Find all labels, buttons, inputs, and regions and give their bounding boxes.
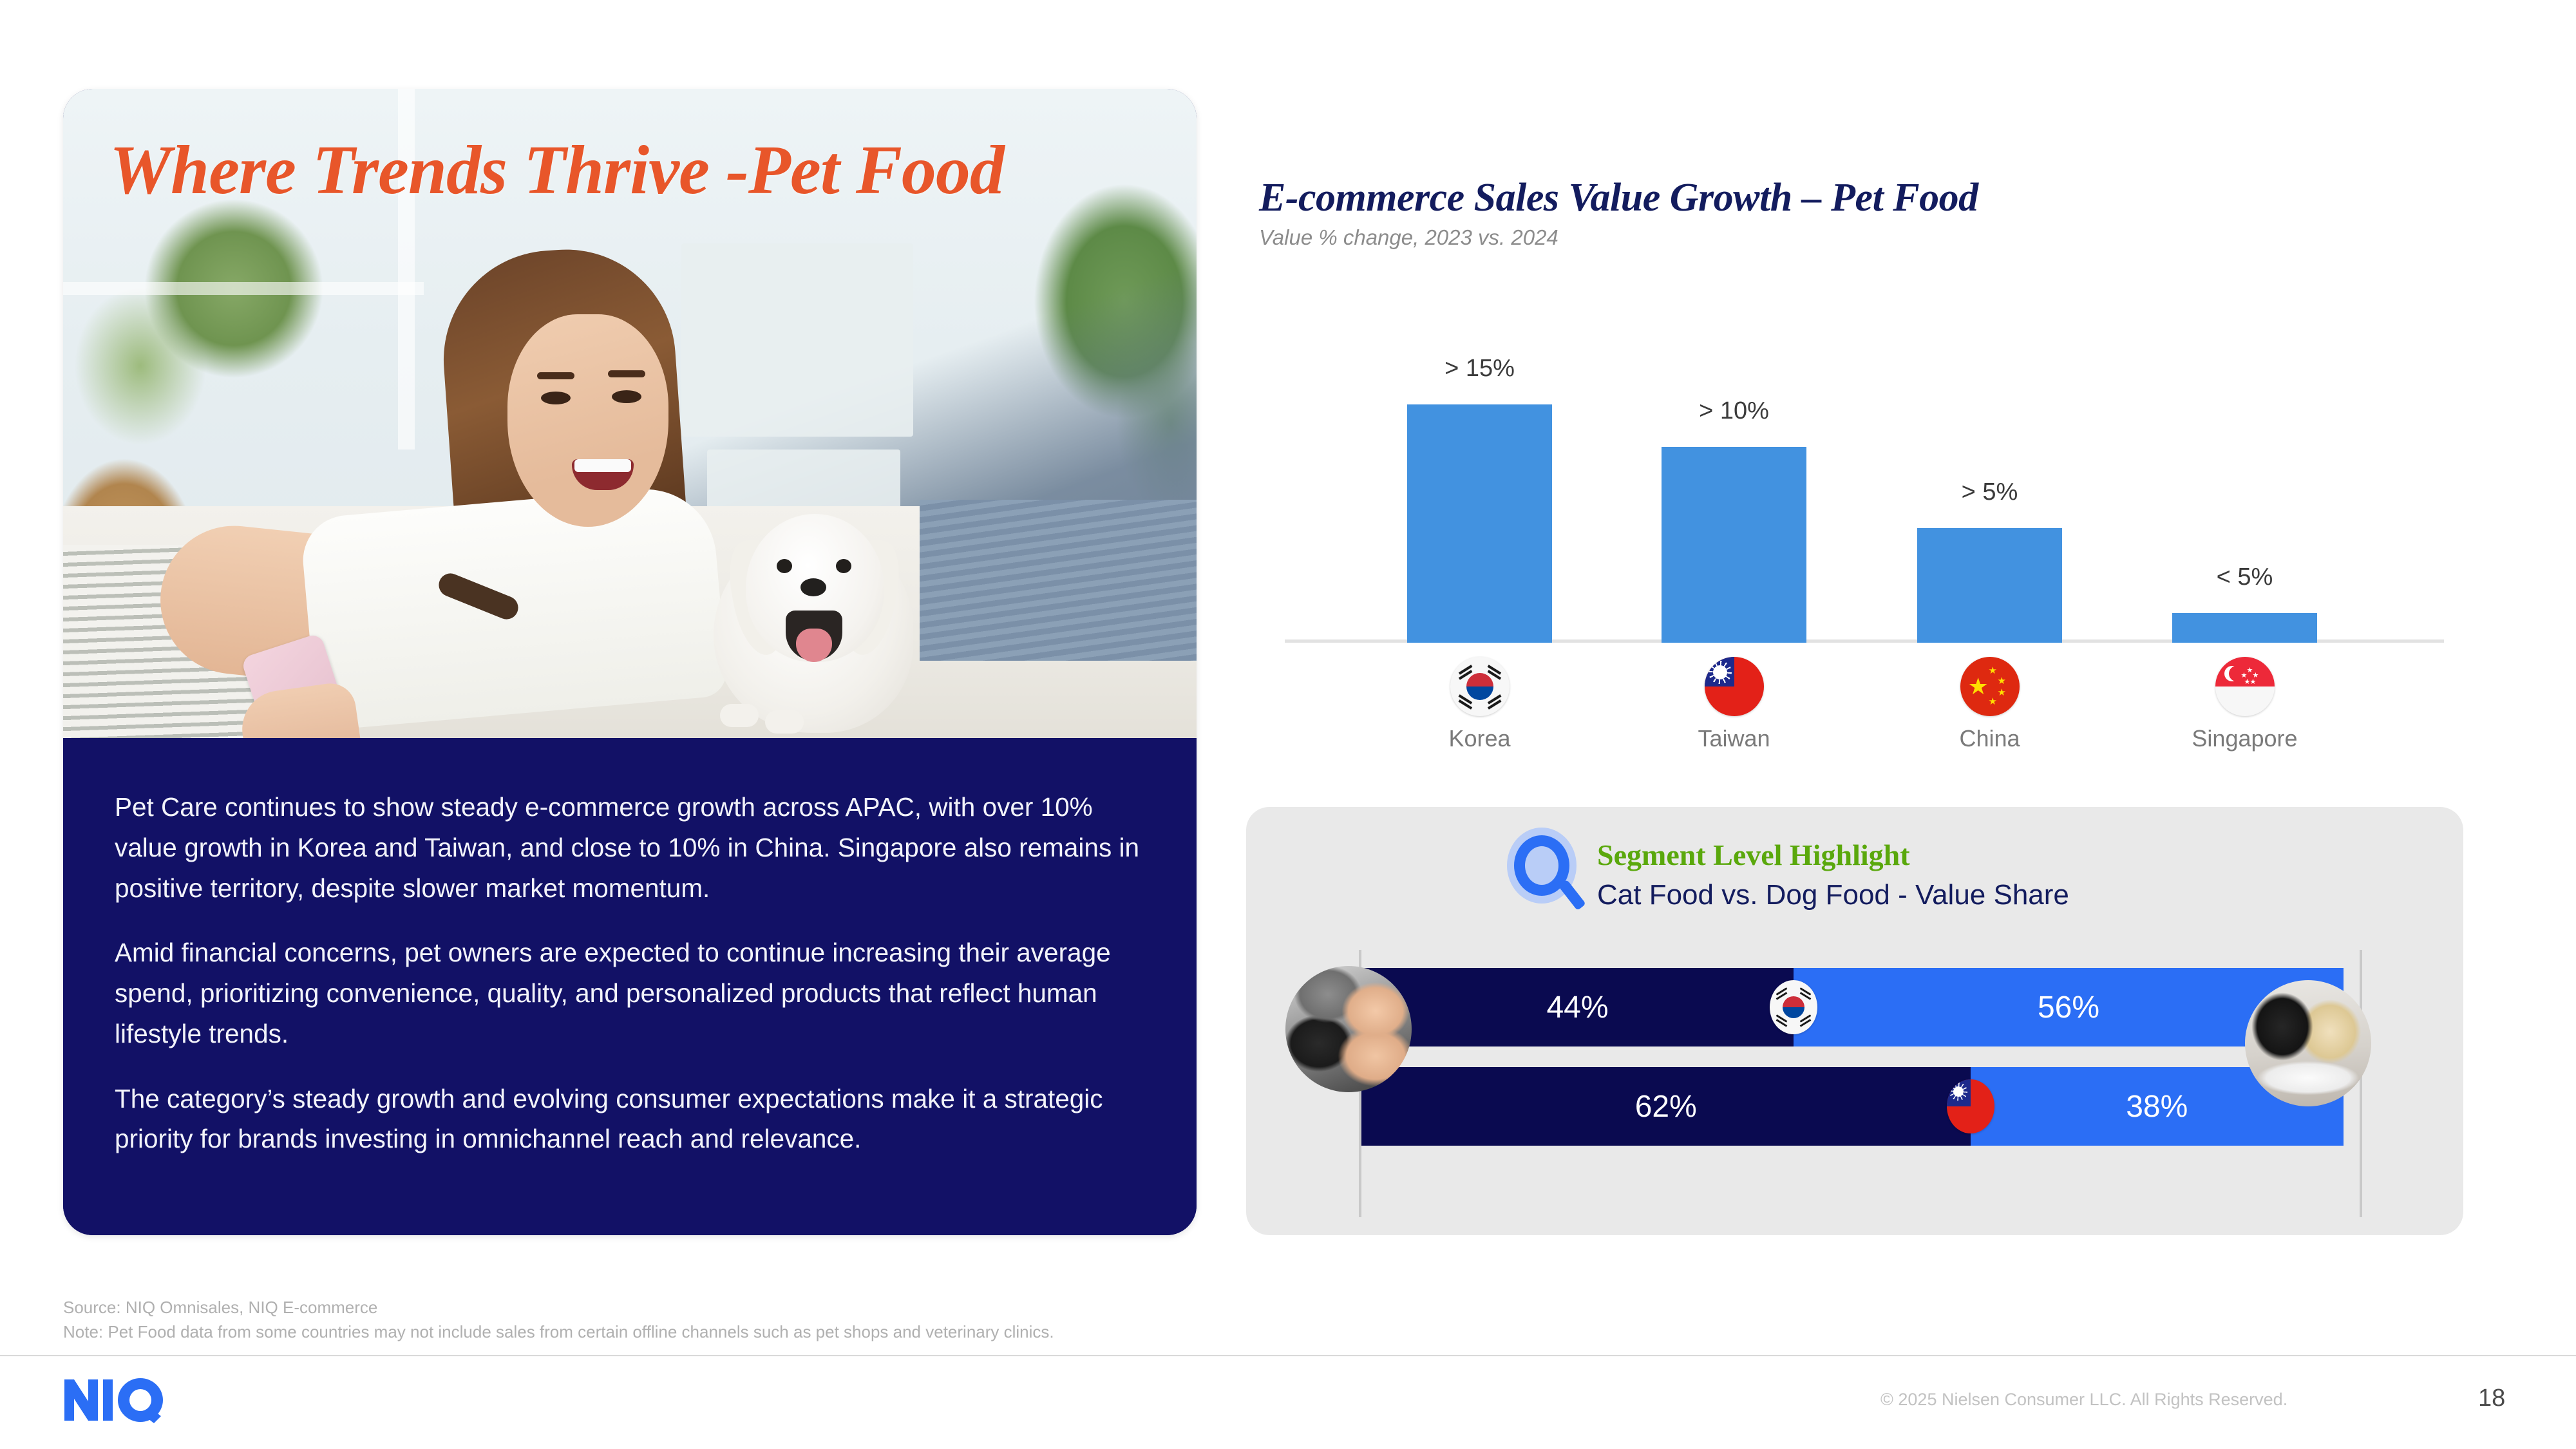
segment-title: Segment Level Highlight xyxy=(1597,838,1910,872)
magnifier-icon xyxy=(1507,828,1584,911)
page-number: 18 xyxy=(2478,1385,2505,1412)
dog-nose xyxy=(800,578,826,596)
woman-eye xyxy=(612,390,641,403)
dog-eye xyxy=(836,559,851,573)
hero-photo: Where Trends Thrive -Pet Food xyxy=(63,89,1197,738)
woman-eye xyxy=(541,392,571,404)
bar-value-label: > 15% xyxy=(1407,355,1552,383)
flag-singapore-wrap: ★ ★ ★ ★ ★ xyxy=(2172,657,2317,716)
bar-korea xyxy=(1407,404,1552,643)
cat-share-bar-taiwan: 62% xyxy=(1361,1067,1971,1146)
insight-paragraph: The category’s steady growth and evolvin… xyxy=(115,1079,1145,1160)
bar-taiwan xyxy=(1662,447,1806,643)
insight-paragraph: Pet Care continues to show steady e-comm… xyxy=(115,787,1145,908)
flag-taiwan-wrap xyxy=(1662,657,1806,716)
copyright-text: © 2025 Nielsen Consumer LLC. All Rights … xyxy=(1880,1390,2287,1410)
taiwan-flag-icon xyxy=(1705,657,1764,716)
bar-singapore xyxy=(2172,613,2317,643)
cat-share-bar-korea: 44% xyxy=(1361,968,1794,1046)
window-mullion xyxy=(63,282,424,295)
insight-paragraph: Amid financial concerns, pet owners are … xyxy=(115,933,1145,1054)
footer-divider xyxy=(0,1355,2576,1356)
bar-value-label: > 10% xyxy=(1662,397,1806,425)
category-label-korea: Korea xyxy=(1407,725,1552,752)
cat-photo xyxy=(1285,966,1412,1092)
dog-paw xyxy=(765,710,804,734)
woman-brow xyxy=(537,372,574,379)
woman-face xyxy=(507,314,668,527)
segment-row-taiwan: 62% 38% xyxy=(1361,1067,2344,1146)
taiwan-flag-icon xyxy=(1947,1079,1994,1133)
dog-share-value: 56% xyxy=(2038,990,2099,1025)
segment-subtitle: Cat Food vs. Dog Food - Value Share xyxy=(1597,879,2069,911)
segment-row-korea: 44% 56% xyxy=(1361,968,2344,1046)
category-label-taiwan: Taiwan xyxy=(1662,725,1806,752)
dog-share-value: 38% xyxy=(2126,1089,2188,1124)
chart-tick-right xyxy=(2360,950,2362,1217)
china-flag-icon: ★ ★ ★ ★ ★ xyxy=(1960,657,2020,716)
hero-title: Where Trends Thrive -Pet Food xyxy=(109,134,1172,207)
woman-teeth xyxy=(574,459,631,472)
category-label-singapore: Singapore xyxy=(2172,725,2317,752)
dog-paw xyxy=(720,704,759,727)
blue-blanket xyxy=(920,500,1197,661)
category-label-china: China xyxy=(1917,725,2062,752)
dogs-photo xyxy=(2245,980,2371,1106)
insight-text-panel: Pet Care continues to show steady e-comm… xyxy=(63,738,1197,1235)
woman-brow xyxy=(608,370,645,377)
niq-logo xyxy=(63,1377,200,1423)
bar-value-label: > 5% xyxy=(1917,478,2062,506)
korea-flag-icon xyxy=(1770,980,1817,1034)
cat-share-value: 62% xyxy=(1635,1089,1697,1124)
bar-china xyxy=(1917,528,2062,643)
note-text: Note: Pet Food data from some countries … xyxy=(63,1320,1054,1345)
bar-chart: > 15% > 10% > 5% < 5% Korea xyxy=(1259,270,2463,786)
dog-eye xyxy=(777,559,792,573)
flag-korea-wrap xyxy=(1407,657,1552,716)
source-note-block: Source: NIQ Omnisales, NIQ E-commerce No… xyxy=(63,1296,1054,1344)
shelf-shape xyxy=(681,243,913,437)
singapore-flag-icon: ★ ★ ★ ★ ★ xyxy=(2215,657,2275,716)
cat-share-value: 44% xyxy=(1546,990,1608,1025)
flag-china-wrap: ★ ★ ★ ★ ★ xyxy=(1917,657,2062,716)
hero-card: Where Trends Thrive -Pet Food Pet Care c… xyxy=(63,89,1197,1235)
bar-value-label: < 5% xyxy=(2172,563,2317,591)
chart-subtitle: Value % change, 2023 vs. 2024 xyxy=(1259,225,1558,250)
segment-stacked-chart: 44% 56% 62% 38 xyxy=(1343,950,2376,1217)
chart-title: E-commerce Sales Value Growth – Pet Food xyxy=(1259,175,1978,221)
source-text: Source: NIQ Omnisales, NIQ E-commerce xyxy=(63,1296,1054,1320)
korea-flag-icon xyxy=(1450,657,1510,716)
